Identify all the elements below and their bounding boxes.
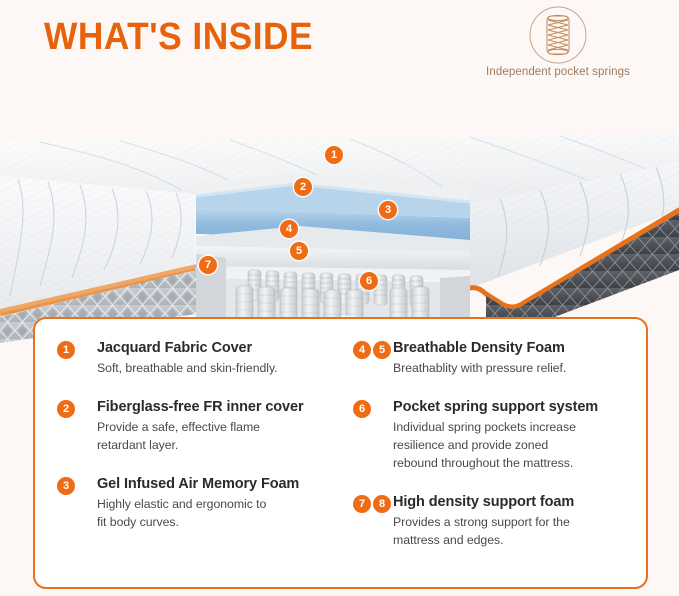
legend-desc-line: mattress and edges. [393,532,638,550]
legend-badge-group: 3 [57,477,75,495]
legend-item-title: Pocket spring support system [393,398,638,416]
legend-item-title: Gel Infused Air Memory Foam [97,475,347,493]
legend-badge-group: 2 [57,400,75,418]
legend-badge-group: 6 [353,400,371,418]
legend-desc-line: Breathablity with pressure relief. [393,360,638,378]
legend-item-title: Jacquard Fabric Cover [97,339,347,357]
legend-desc-line: Highly elastic and ergonomic to [97,496,347,514]
legend-column-right: 45Breathable Density FoamBreathablity wi… [353,339,638,570]
legend-badge-7[interactable]: 7 [353,495,371,513]
legend-desc-line: rebound throughout the mattress. [393,455,638,473]
legend-item-description: Individual spring pockets increaseresili… [393,419,638,473]
legend-badge-5[interactable]: 5 [373,341,391,359]
legend-badge-8[interactable]: 8 [373,495,391,513]
legend-desc-line: fit body curves. [97,514,347,532]
legend-badge-2[interactable]: 2 [57,400,75,418]
legend-item-description: Highly elastic and ergonomic tofit body … [97,496,347,532]
legend-badge-1[interactable]: 1 [57,341,75,359]
callout-pin-5[interactable]: 5 [290,242,308,260]
legend-item-title: Breathable Density Foam [393,339,638,357]
legend-desc-line: Soft, breathable and skin-friendly. [97,360,347,378]
legend-badge-6[interactable]: 6 [353,400,371,418]
legend-desc-line: retardant layer. [97,437,347,455]
pocket-spring-icon [527,4,589,66]
legend-item-description: Soft, breathable and skin-friendly. [97,360,347,378]
legend-item-title: Fiberglass-free FR inner cover [97,398,347,416]
legend-item: 6Pocket spring support systemIndividual … [353,398,638,473]
legend-desc-line: Individual spring pockets increase [393,419,638,437]
legend-desc-line: Provide a safe, effective flame [97,419,347,437]
callout-pin-7[interactable]: 7 [199,256,217,274]
legend-badge-group: 1 [57,341,75,359]
legend-badge-group: 78 [353,495,391,513]
legend-item: 1Jacquard Fabric CoverSoft, breathable a… [57,339,347,378]
spring-icon-caption: Independent pocket springs [483,66,633,78]
legend-desc-line: resilience and provide zoned [393,437,638,455]
legend-desc-line: Provides a strong support for the [393,514,638,532]
legend-item: 3Gel Infused Air Memory FoamHighly elast… [57,475,347,532]
legend-item: 2Fiberglass-free FR inner coverProvide a… [57,398,347,455]
legend-item-description: Provides a strong support for themattres… [393,514,638,550]
legend-item: 45Breathable Density FoamBreathablity wi… [353,339,638,378]
legend-badge-3[interactable]: 3 [57,477,75,495]
legend-item-description: Breathablity with pressure relief. [393,360,638,378]
callout-pin-3[interactable]: 3 [379,201,397,219]
callout-pin-1[interactable]: 1 [325,146,343,164]
legend-item-description: Provide a safe, effective flameretardant… [97,419,347,455]
callout-pin-2[interactable]: 2 [294,178,312,196]
legend-item: 78High density support foamProvides a st… [353,493,638,550]
page-title: WHAT'S INSIDE [44,16,313,59]
mattress-cutaway-illustration: 1 2 3 4 5 6 7 8 [0,118,679,343]
callout-pin-4[interactable]: 4 [280,220,298,238]
legend-item-title: High density support foam [393,493,638,511]
legend-column-left: 1Jacquard Fabric CoverSoft, breathable a… [57,339,347,552]
legend-panel: 1Jacquard Fabric CoverSoft, breathable a… [33,317,648,589]
callout-pin-6[interactable]: 6 [360,272,378,290]
legend-badge-group: 45 [353,341,391,359]
legend-badge-4[interactable]: 4 [353,341,371,359]
